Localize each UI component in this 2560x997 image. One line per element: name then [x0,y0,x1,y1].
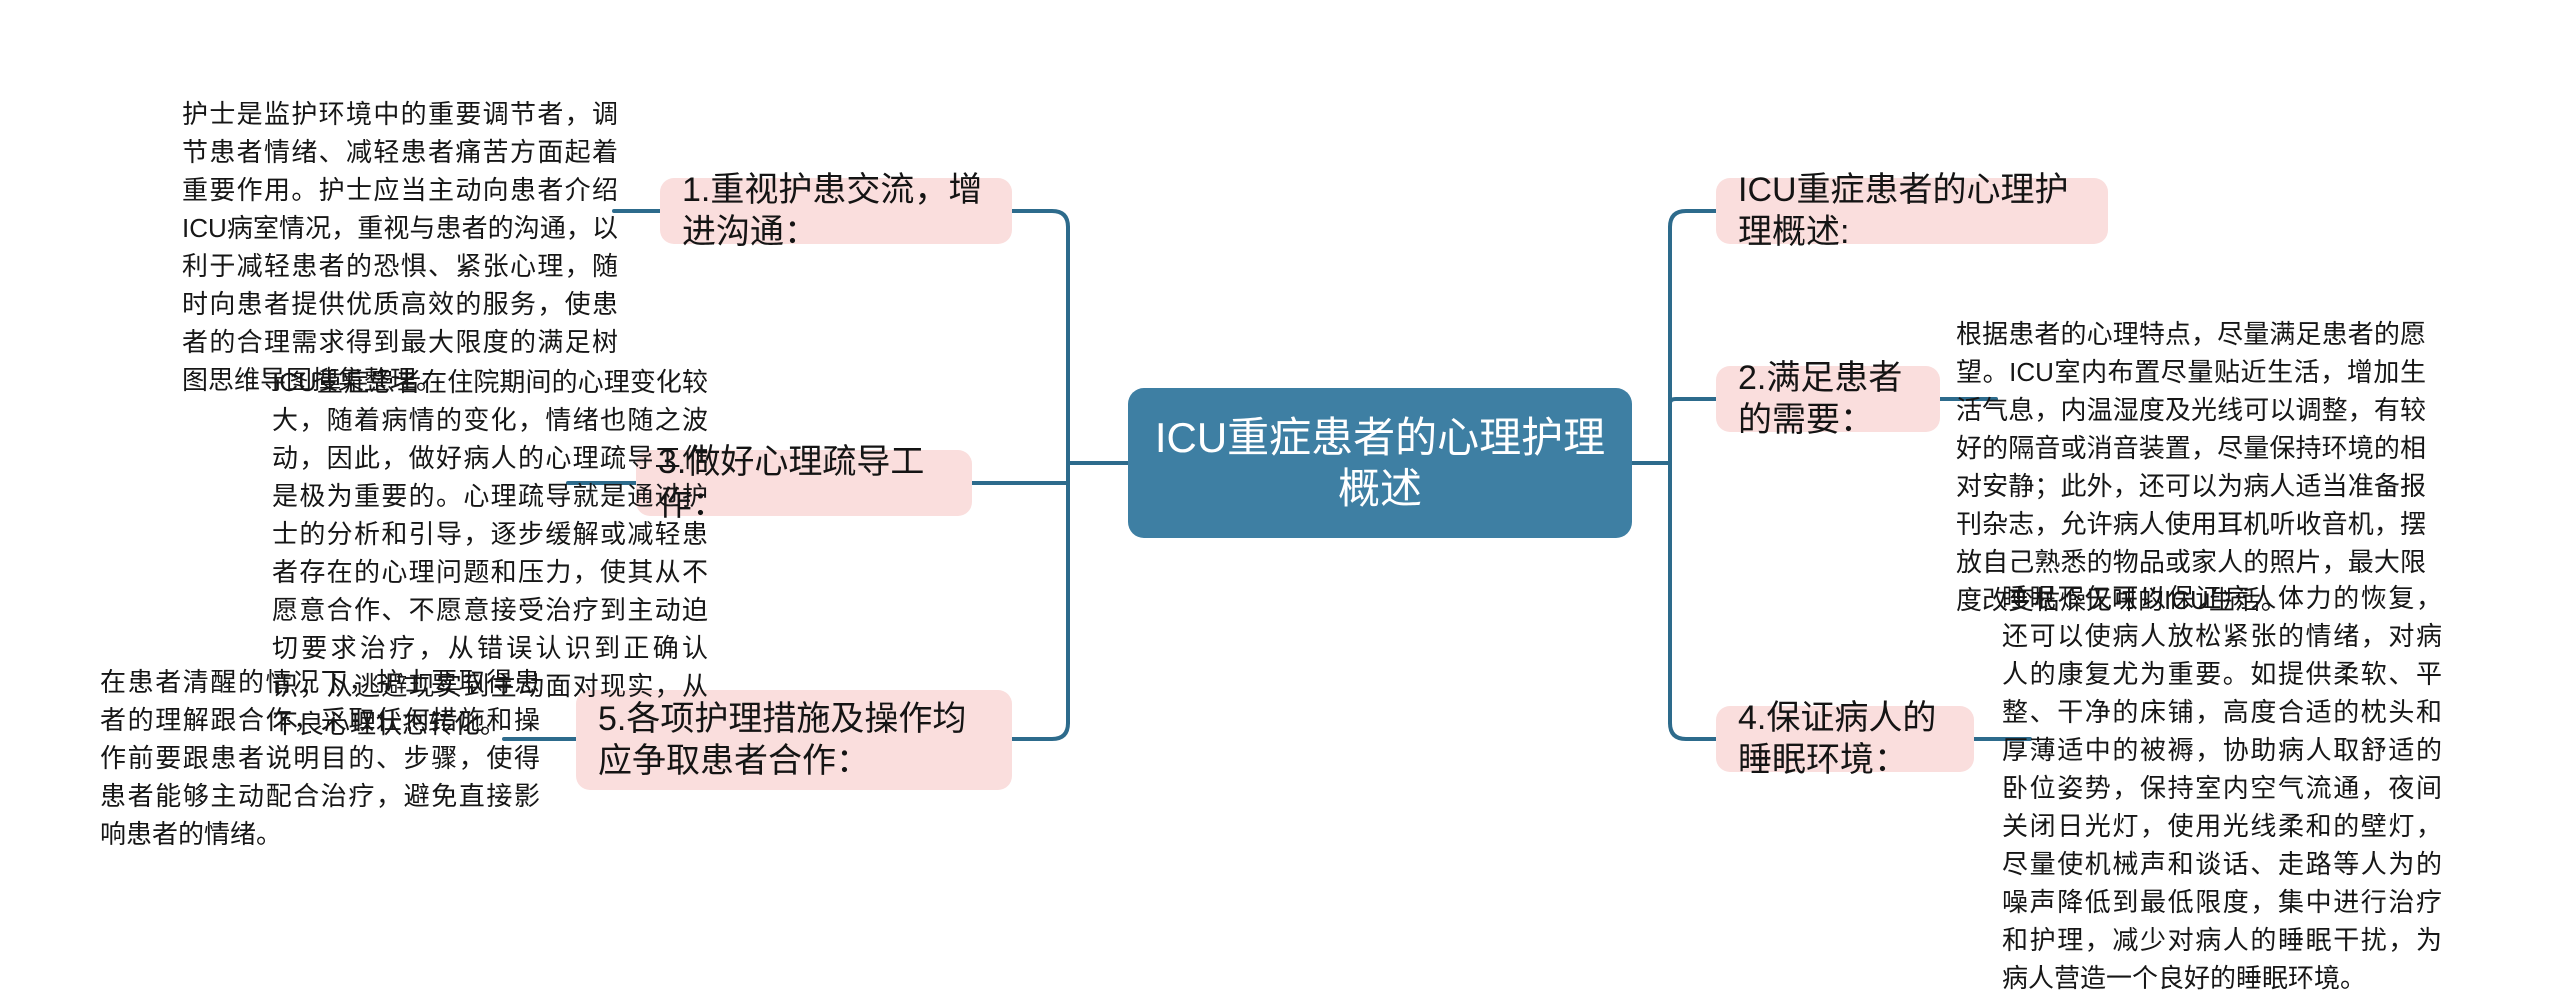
connector-right-branch-0 [1670,211,1716,227]
note-branch-5: 在患者清醒的情况下，护士要取得患者的理解跟合作，采取任何措施和操作前要跟患者说明… [100,664,540,854]
topic-label-branch-4: 4.保证病人的睡眠环境： [1738,697,1952,782]
connector-right-branch-2 [1670,399,1716,403]
topic-node-branch-4[interactable]: 4.保证病人的睡眠环境： [1716,706,1974,772]
connector-left-branch-5 [1012,723,1068,739]
topic-label-branch-1: 1.重视护患交流，增进沟通： [682,169,990,254]
connector-right-branch-4 [1670,723,1716,739]
note-branch-4: 睡眠不仅可以保证病人体力的恢复，还可以使病人放松紧张的情绪，对病人的康复尤为重要… [2002,580,2442,997]
note-branch-2: 根据患者的心理特点，尽量满足患者的愿望。ICU室内布置尽量贴近生活，增加生活气息… [1956,316,2426,620]
note-branch-1: 护士是监护环境中的重要调节者，调节患者情绪、减轻患者痛苦方面起着重要作用。护士应… [182,96,618,400]
topic-node-branch-1[interactable]: 1.重视护患交流，增进沟通： [660,178,1012,244]
topic-label-branch-2: 2.满足患者的需要： [1738,357,1918,442]
topic-label-branch-0: ICU重症患者的心理护理概述: [1738,169,2086,254]
root-node-label: ICU重症患者的心理护理概述 [1154,412,1606,514]
topic-node-branch-0[interactable]: ICU重症患者的心理护理概述: [1716,178,2108,244]
mindmap-canvas: ICU重症患者的心理护理概述 1.重视护患交流，增进沟通： 3.做好心理疏导工作… [0,0,2560,941]
root-node[interactable]: ICU重症患者的心理护理概述 [1128,388,1632,538]
connector-left-branch-1 [1012,211,1068,227]
topic-node-branch-2[interactable]: 2.满足患者的需要： [1716,366,1940,432]
